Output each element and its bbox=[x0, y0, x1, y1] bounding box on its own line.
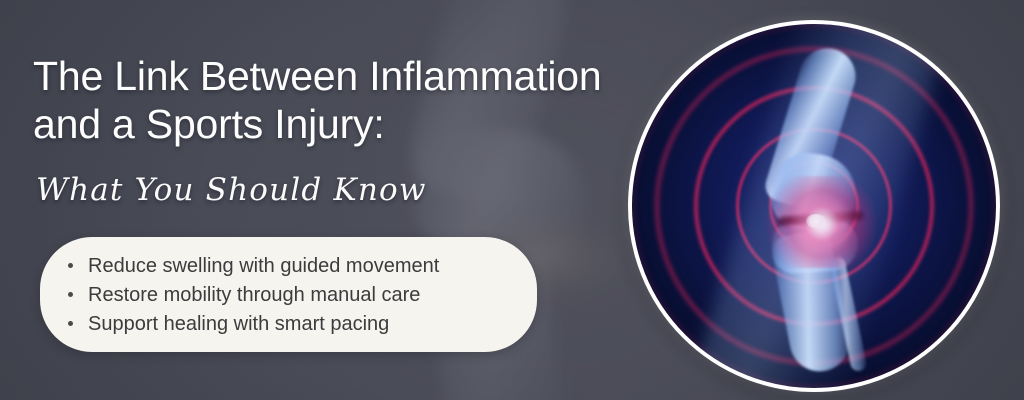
banner-subheadline: What You Should Know bbox=[36, 172, 427, 208]
benefit-text: Support healing with smart pacing bbox=[88, 313, 389, 335]
knee-xray-medallion bbox=[628, 20, 1000, 392]
medallion-inner bbox=[632, 24, 996, 388]
benefits-card: Reduce swelling with guided movement Res… bbox=[40, 237, 537, 352]
list-item: Reduce swelling with guided movement bbox=[66, 252, 537, 281]
bullet-dot-icon bbox=[68, 292, 73, 297]
list-item: Support healing with smart pacing bbox=[66, 310, 537, 339]
benefit-text: Restore mobility through manual care bbox=[88, 284, 420, 306]
medallion-inner-glow bbox=[632, 24, 996, 388]
health-banner: The Link Between Inflammation and a Spor… bbox=[0, 0, 1024, 400]
bullet-dot-icon bbox=[68, 321, 73, 326]
bullet-dot-icon bbox=[68, 263, 73, 268]
benefits-list: Reduce swelling with guided movement Res… bbox=[40, 237, 537, 339]
banner-headline: The Link Between Inflammation and a Spor… bbox=[33, 52, 633, 148]
banner-content: The Link Between Inflammation and a Spor… bbox=[0, 0, 640, 400]
list-item: Restore mobility through manual care bbox=[66, 281, 537, 310]
benefit-text: Reduce swelling with guided movement bbox=[88, 255, 439, 277]
